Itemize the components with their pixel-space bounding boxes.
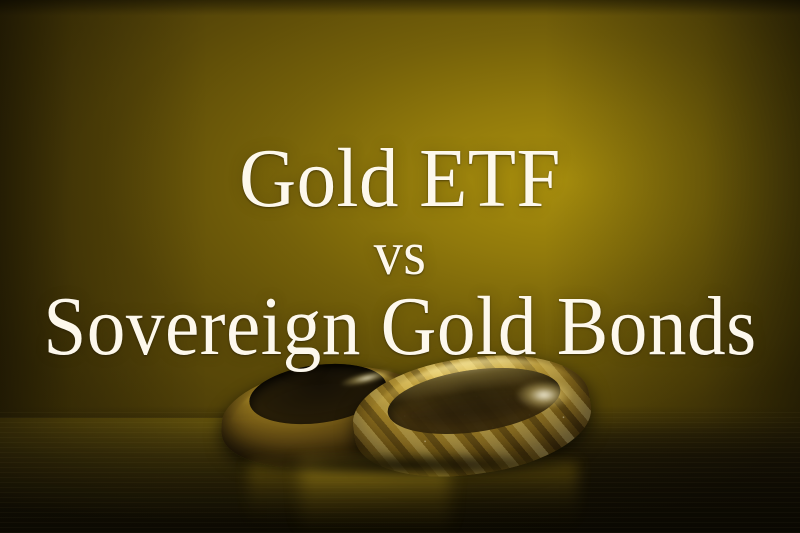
backdrop-top-edge-shade: [0, 0, 800, 16]
gold-rings-group: [215, 352, 605, 477]
rings-contact-shadow: [237, 452, 585, 478]
ring-right-specular: [515, 380, 573, 410]
title-card-image: Gold ETF vs Sovereign Gold Bonds: [0, 0, 800, 533]
